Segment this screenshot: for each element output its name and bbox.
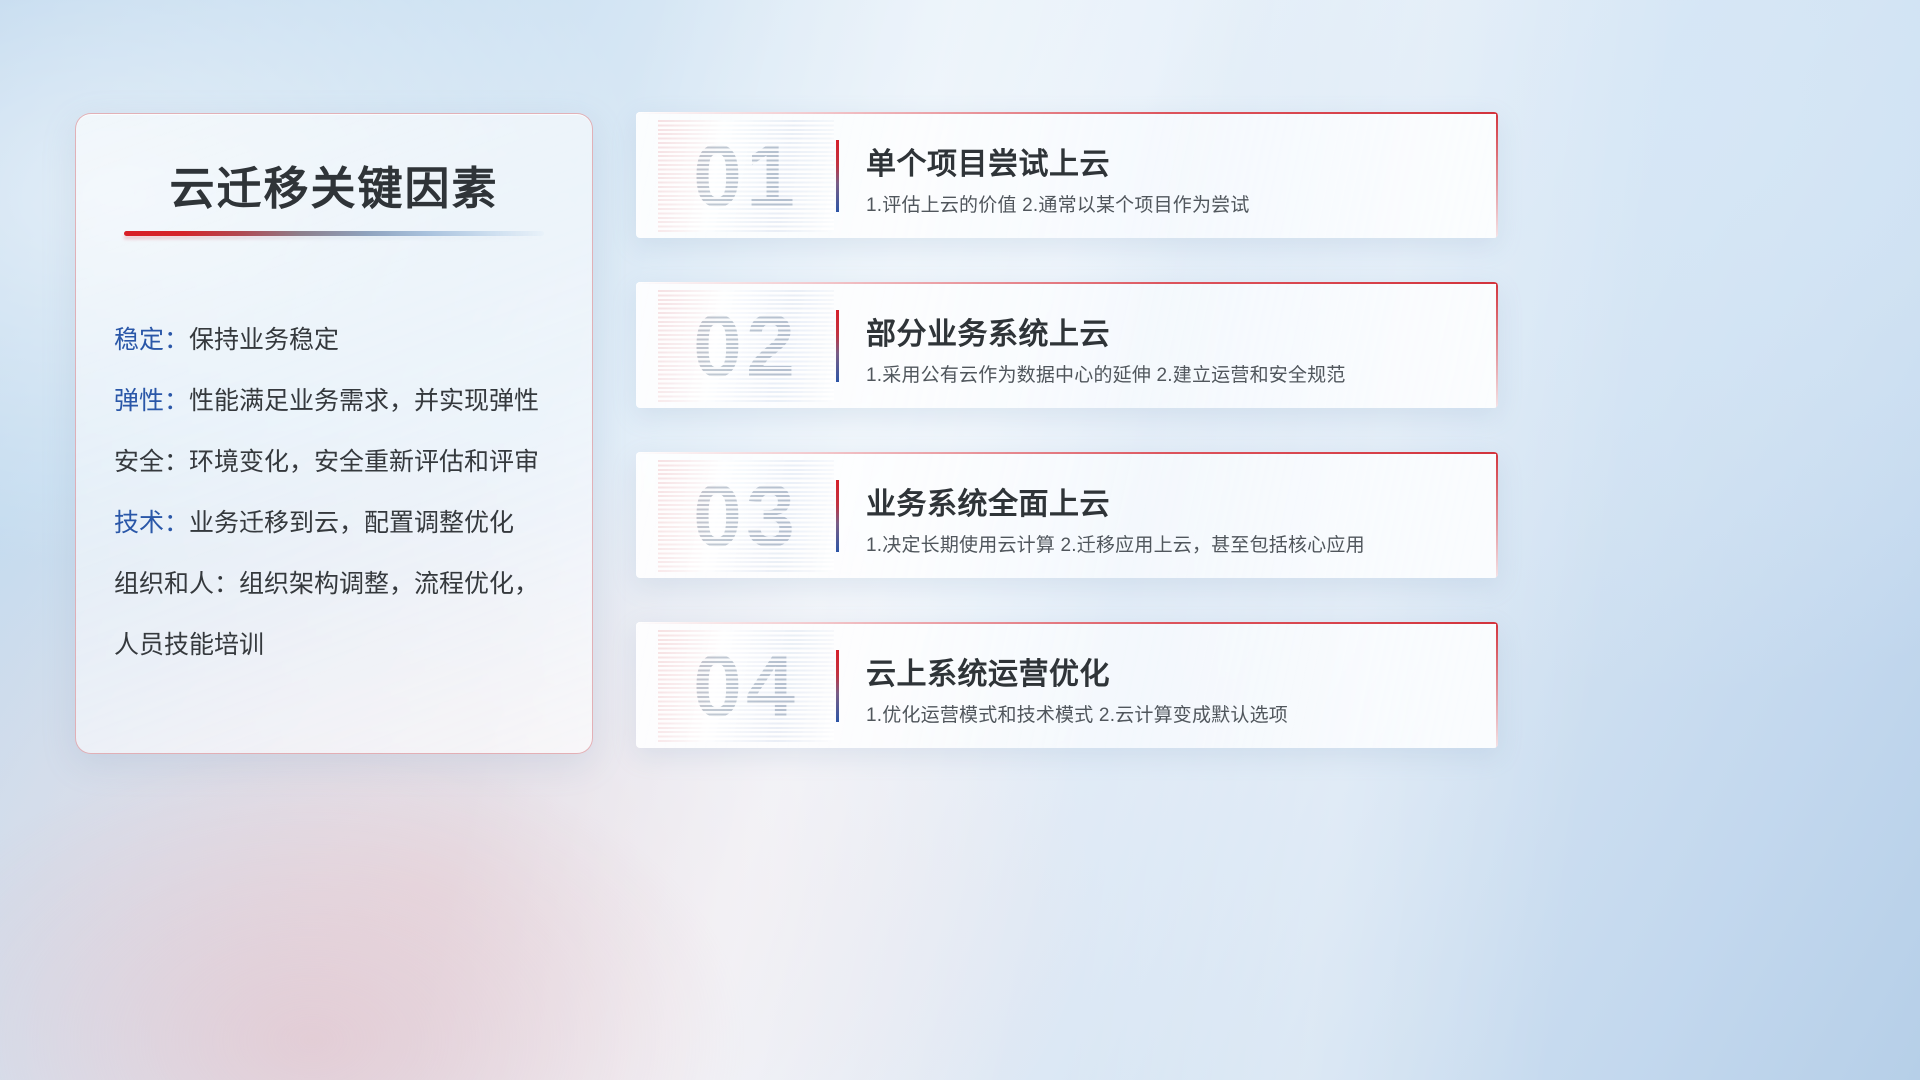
stage-description: 1.决定长期使用云计算 2.迁移应用上云，甚至包括核心应用 (866, 530, 1365, 557)
list-item: 组织和人：组织架构调整，流程优化， (114, 554, 566, 615)
key-factors-panel: 云迁移关键因素 稳定：保持业务稳定 弹性：性能满足业务需求，并实现弹性 安全：环… (75, 113, 593, 754)
stage-title: 业务系统全面上云 (866, 479, 1110, 523)
stage-card[interactable]: 01 单个项目尝试上云 1.评估上云的价值 2.通常以某个项目作为尝试 (636, 112, 1498, 238)
stage-description: 1.评估上云的价值 2.通常以某个项目作为尝试 (866, 190, 1250, 217)
migration-stage-cards: 01 单个项目尝试上云 1.评估上云的价值 2.通常以某个项目作为尝试 02 部… (636, 112, 1498, 792)
stage-number: 04 (658, 630, 834, 742)
stage-accent-bar (836, 480, 839, 552)
stage-accent-bar (836, 310, 839, 382)
list-item-label: 组织和人： (114, 570, 239, 598)
list-item-text: 环境变化，安全重新评估和评审 (189, 448, 539, 476)
stage-number: 02 (658, 290, 834, 402)
stage-title: 云上系统运营优化 (866, 649, 1110, 693)
stage-accent-bar (836, 650, 839, 722)
stage-number-graphic: 03 (658, 460, 834, 572)
list-item-label: 技术： (114, 509, 189, 537)
key-factors-list: 稳定：保持业务稳定 弹性：性能满足业务需求，并实现弹性 安全：环境变化，安全重新… (114, 310, 566, 676)
stage-number-graphic: 02 (658, 290, 834, 402)
list-item-label: 稳定： (114, 326, 189, 354)
page-title: 云迁移关键因素 (76, 152, 592, 217)
stage-number-graphic: 04 (658, 630, 834, 742)
stage-card[interactable]: 03 业务系统全面上云 1.决定长期使用云计算 2.迁移应用上云，甚至包括核心应… (636, 452, 1498, 578)
list-item: 稳定：保持业务稳定 (114, 310, 566, 371)
list-item-label: 安全： (114, 448, 189, 476)
list-item-text: 业务迁移到云，配置调整优化 (189, 509, 514, 537)
stage-accent-bar (836, 140, 839, 212)
list-item-text: 性能满足业务需求，并实现弹性 (189, 387, 539, 415)
list-item-label: 弹性： (114, 387, 189, 415)
slide-canvas: 云迁移关键因素 稳定：保持业务稳定 弹性：性能满足业务需求，并实现弹性 安全：环… (0, 0, 1920, 1080)
stage-number: 03 (658, 460, 834, 572)
stage-title: 部分业务系统上云 (866, 309, 1110, 353)
list-item-text: 保持业务稳定 (189, 326, 339, 354)
stage-number-graphic: 01 (658, 120, 834, 232)
stage-card[interactable]: 02 部分业务系统上云 1.采用公有云作为数据中心的延伸 2.建立运营和安全规范 (636, 282, 1498, 408)
list-item: 安全：环境变化，安全重新评估和评审 (114, 432, 566, 493)
stage-card[interactable]: 04 云上系统运营优化 1.优化运营模式和技术模式 2.云计算变成默认选项 (636, 622, 1498, 748)
list-item: 技术：业务迁移到云，配置调整优化 (114, 493, 566, 554)
list-item-text: 组织架构调整，流程优化， (239, 570, 539, 598)
list-item: 弹性：性能满足业务需求，并实现弹性 (114, 371, 566, 432)
stage-description: 1.采用公有云作为数据中心的延伸 2.建立运营和安全规范 (866, 360, 1346, 387)
title-divider (124, 231, 544, 236)
list-item: 人员技能培训 (114, 615, 566, 676)
stage-description: 1.优化运营模式和技术模式 2.云计算变成默认选项 (866, 700, 1288, 727)
stage-number: 01 (658, 120, 834, 232)
list-item-text: 人员技能培训 (114, 631, 264, 659)
stage-title: 单个项目尝试上云 (866, 139, 1110, 183)
